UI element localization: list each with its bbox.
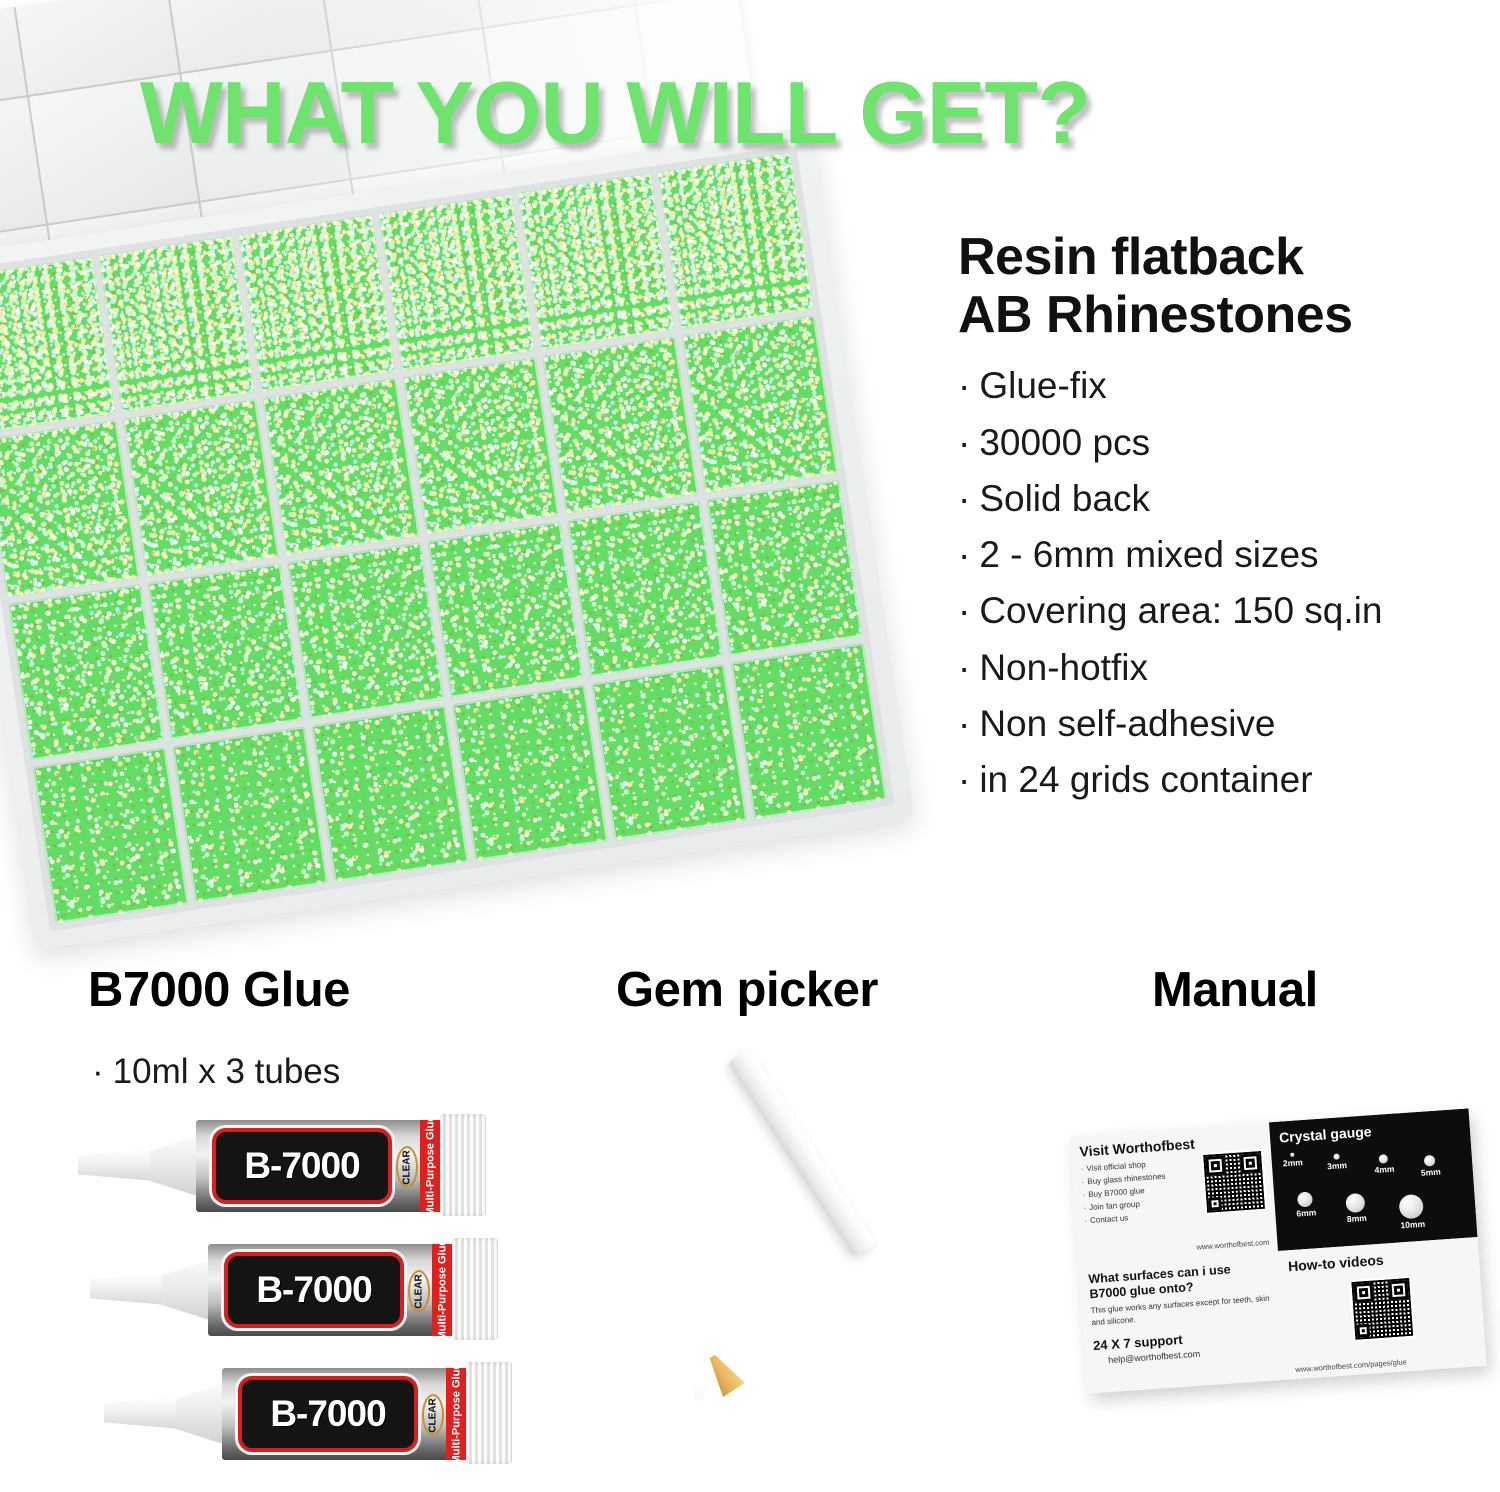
tube-clear-label: CLEAR xyxy=(402,1150,413,1184)
tube-purpose-stripe: Multi-Purpose Glue xyxy=(446,1368,466,1460)
bullet-icon: · xyxy=(958,422,970,463)
gauge-item: 10mm xyxy=(1398,1194,1425,1231)
container-tray xyxy=(0,126,915,950)
manual-visit-label: Buy B7000 glue xyxy=(1088,1186,1145,1199)
glue-tube: B-7000 CLEAR Multi-Purpose Glue 0.5 OZ |… xyxy=(90,1242,500,1338)
pencil-tip xyxy=(701,1349,745,1397)
crystal-icon xyxy=(1399,1194,1425,1220)
section-heading-glue: B7000 Glue xyxy=(88,962,350,1018)
section-heading-manual: Manual xyxy=(1152,962,1318,1018)
gem-compartment xyxy=(567,500,723,676)
tube-body: B-7000 CLEAR Multi-Purpose Glue 0.5 OZ |… xyxy=(222,1368,472,1460)
bullet-icon: · xyxy=(958,759,970,800)
pencil-body xyxy=(728,1049,876,1258)
feature-item: ·Covering area: 150 sq.in xyxy=(958,583,1488,639)
gauge-item: 8mm xyxy=(1345,1193,1367,1224)
gauge-label: 5mm xyxy=(1421,1166,1441,1177)
tube-purpose-stripe: Multi-Purpose Glue xyxy=(420,1120,440,1212)
tube-clear-label: CLEAR xyxy=(414,1274,425,1308)
feature-item: ·2 - 6mm mixed sizes xyxy=(958,527,1488,583)
bullet-icon: · xyxy=(958,534,970,575)
feature-label: Non self-adhesive xyxy=(979,703,1275,744)
tube-clear-badge: CLEAR xyxy=(408,1270,430,1312)
bullet-icon: · xyxy=(958,703,970,744)
gem-compartment xyxy=(312,705,468,881)
glue-subtext-label: 10ml x 3 tubes xyxy=(113,1052,341,1091)
bullet-icon: · xyxy=(958,365,970,406)
bullet-icon: · xyxy=(1084,1216,1087,1225)
bullet-icon: · xyxy=(1082,1190,1085,1199)
tube-brand-plate: B-7000 xyxy=(212,1128,392,1204)
glue-tube: B-7000 CLEAR Multi-Purpose Glue 0.5 OZ |… xyxy=(78,1118,488,1214)
gem-compartment xyxy=(0,420,140,596)
gem-compartment xyxy=(591,664,747,840)
feature-label: Non-hotfix xyxy=(979,647,1148,688)
gem-compartment xyxy=(0,257,115,433)
gem-compartment xyxy=(378,194,534,370)
section-heading-picker: Gem picker xyxy=(616,962,878,1018)
gauge-item: 6mm xyxy=(1295,1191,1317,1218)
tube-purpose-stripe: Multi-Purpose Glue xyxy=(432,1244,452,1336)
tube-crimp xyxy=(452,1238,498,1340)
crystal-icon xyxy=(1333,1153,1339,1159)
tube-crimp xyxy=(440,1114,486,1216)
gem-compartment xyxy=(239,215,395,391)
gem-compartment xyxy=(172,726,328,902)
gauge-label: 2mm xyxy=(1283,1157,1303,1168)
feature-label: Solid back xyxy=(979,478,1150,519)
tube-body: B-7000 CLEAR Multi-Purpose Glue 0.5 OZ |… xyxy=(196,1120,446,1212)
tube-brand-label: B-7000 xyxy=(244,1145,359,1187)
gem-compartment xyxy=(123,399,279,575)
gauge-item: 5mm xyxy=(1420,1154,1441,1177)
gem-compartment xyxy=(33,747,189,923)
feature-label: 2 - 6mm mixed sizes xyxy=(979,534,1318,575)
tube-brand-label: B-7000 xyxy=(270,1393,385,1435)
feature-item: ·Glue-fix xyxy=(958,358,1488,414)
pencil-lead xyxy=(688,1384,706,1402)
manual-videos-title: How-to videos xyxy=(1288,1246,1471,1275)
tube-clear-badge: CLEAR xyxy=(422,1394,444,1436)
gauge-item: 2mm xyxy=(1282,1152,1303,1168)
feature-label: Covering area: 150 sq.in xyxy=(979,590,1382,631)
gauge-label: 8mm xyxy=(1347,1213,1367,1224)
gauge-label: 10mm xyxy=(1400,1219,1425,1231)
gauge-item: 3mm xyxy=(1326,1153,1347,1171)
manual-quad-gauge: Crystal gauge 2mm 3mm 4mm 5mm 6mm xyxy=(1269,1108,1478,1251)
tube-brand-plate: B-7000 xyxy=(224,1252,404,1328)
tube-body: B-7000 CLEAR Multi-Purpose Glue 0.5 OZ |… xyxy=(208,1244,458,1336)
manual-quad-surfaces: What surfaces can i use B7000 glue onto?… xyxy=(1078,1251,1287,1394)
gauge-label: 3mm xyxy=(1327,1160,1347,1171)
bullet-icon: · xyxy=(958,590,970,631)
features-heading: Resin flatback AB Rhinestones xyxy=(958,228,1488,344)
manual-quad-videos: How-to videos www.worthofbest.com/pages/… xyxy=(1278,1237,1487,1380)
feature-item: ·Non self-adhesive xyxy=(958,696,1488,752)
manual-visit-label: Contact us xyxy=(1090,1213,1129,1225)
feature-item: ·in 24 grids container xyxy=(958,752,1488,808)
qr-code-icon xyxy=(1349,1276,1415,1342)
gem-compartment xyxy=(706,479,862,655)
tube-clear-label: CLEAR xyxy=(428,1398,439,1432)
bullet-icon: · xyxy=(958,647,970,688)
gem-picker-pencil xyxy=(630,1080,970,1480)
gem-compartment xyxy=(518,173,674,349)
bullet-icon: · xyxy=(1080,1164,1083,1173)
gem-compartment xyxy=(287,542,443,718)
gauge-item: 4mm xyxy=(1374,1154,1395,1175)
tube-clear-badge: CLEAR xyxy=(396,1146,418,1188)
gem-compartment xyxy=(403,358,559,534)
gem-compartment xyxy=(8,584,164,760)
feature-label: in 24 grids container xyxy=(979,759,1312,800)
gem-compartment xyxy=(451,685,607,861)
crystal-icon xyxy=(1346,1193,1366,1213)
glue-subtext: ·10ml x 3 tubes xyxy=(92,1052,340,1092)
crystal-icon xyxy=(1424,1155,1436,1167)
feature-item: ·Non-hotfix xyxy=(958,640,1488,696)
gem-compartment xyxy=(731,643,887,819)
tube-purpose-label: Multi-Purpose Glue xyxy=(424,1120,436,1212)
bullet-icon: · xyxy=(1081,1177,1084,1186)
feature-item: ·Solid back xyxy=(958,471,1488,527)
gauge-label: 4mm xyxy=(1374,1164,1394,1175)
crystal-icon xyxy=(1297,1191,1313,1207)
tube-purpose-label: Multi-Purpose Glue xyxy=(450,1368,462,1460)
gem-compartment xyxy=(99,236,255,412)
manual-videos-url: www.worthofbest.com/pages/glue xyxy=(1295,1357,1407,1374)
features-heading-line2: AB Rhinestones xyxy=(958,286,1353,344)
manual-visit-url: www.worthofbest.com xyxy=(1196,1238,1269,1252)
grid-24 xyxy=(0,145,895,932)
gem-compartment xyxy=(427,521,583,697)
feature-item: ·30000 pcs xyxy=(958,415,1488,471)
tube-brand-plate: B-7000 xyxy=(238,1376,418,1452)
glue-tube: B-7000 CLEAR Multi-Purpose Glue 0.5 OZ |… xyxy=(104,1366,514,1462)
tube-purpose-label: Multi-Purpose Glue xyxy=(436,1244,448,1336)
gem-compartment xyxy=(263,379,419,555)
feature-label: 30000 pcs xyxy=(979,422,1150,463)
tube-brand-label: B-7000 xyxy=(256,1269,371,1311)
crystal-icon xyxy=(1290,1153,1294,1157)
qr-code-icon xyxy=(1201,1149,1267,1215)
bullet-icon: · xyxy=(1083,1203,1086,1212)
bullet-icon: · xyxy=(958,478,970,519)
crystal-icon xyxy=(1379,1154,1389,1164)
gem-compartment xyxy=(542,337,698,513)
bullet-icon: · xyxy=(92,1052,104,1091)
features-block: Resin flatback AB Rhinestones ·Glue-fix … xyxy=(958,228,1488,808)
manual-quad-visit: Visit Worthofbest ·Visit official shop ·… xyxy=(1069,1122,1278,1265)
features-list: ·Glue-fix ·30000 pcs ·Solid back ·2 - 6m… xyxy=(958,358,1488,808)
manual-card: Visit Worthofbest ·Visit official shop ·… xyxy=(1069,1108,1486,1393)
gauge-label: 6mm xyxy=(1296,1207,1316,1218)
feature-label: Glue-fix xyxy=(979,365,1106,406)
gem-compartment xyxy=(657,153,813,329)
glue-tubes-group: B-7000 CLEAR Multi-Purpose Glue 0.5 OZ |… xyxy=(0,1090,600,1490)
tube-crimp xyxy=(466,1362,512,1464)
gem-compartment xyxy=(682,316,838,492)
features-heading-line1: Resin flatback xyxy=(958,228,1304,286)
gem-compartment xyxy=(148,563,304,739)
page-title: WHAT YOU WILL GET? xyxy=(140,62,1440,164)
manual-visit-label: Join fan group xyxy=(1089,1199,1140,1212)
manual-visit-label: Visit official shop xyxy=(1086,1160,1146,1173)
